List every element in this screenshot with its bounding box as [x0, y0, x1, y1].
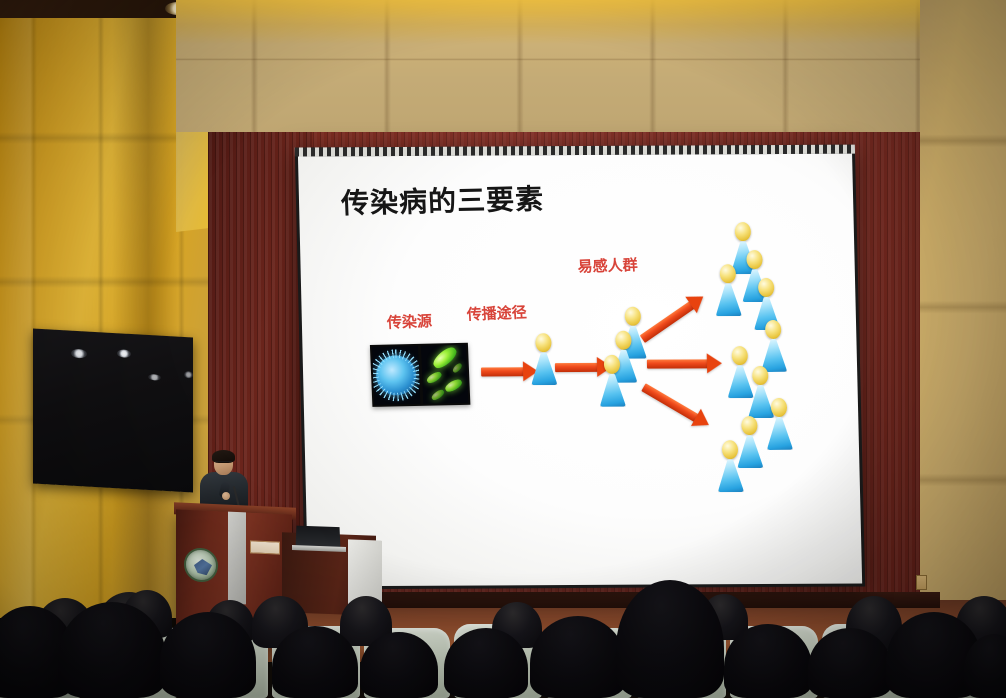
label-source-of-infection: 传染源	[386, 310, 432, 333]
pathogen-micrograph-pair	[370, 343, 471, 407]
screen-surface: 传染病的三要素 传染源 传播途径 易感人群	[298, 154, 862, 587]
arrow-group-to-top-cluster	[640, 301, 696, 343]
glasses-icon	[215, 461, 232, 465]
figure-body	[717, 459, 744, 492]
figure-head	[765, 320, 781, 339]
monitor-glare	[184, 371, 193, 379]
bacterium-icon	[430, 388, 445, 402]
monitor-glare	[117, 349, 131, 358]
figure-head	[604, 355, 620, 374]
person-figure	[760, 320, 787, 372]
figure-head	[722, 440, 738, 459]
arrow-pathogen-to-person	[481, 367, 525, 376]
virus-micrograph-icon	[372, 346, 420, 405]
figure-head	[732, 346, 748, 365]
monitor-glare	[148, 374, 161, 381]
label-transmission-route: 传播途径	[466, 301, 527, 324]
figure-body	[766, 417, 793, 450]
arrow-group-to-middle-cluster	[647, 359, 709, 368]
figure-body	[599, 374, 626, 407]
stone-pillar-right	[920, 0, 1006, 640]
figure-head	[615, 331, 631, 350]
figure-body	[715, 283, 742, 316]
person-figure	[599, 355, 626, 407]
audience	[0, 560, 1006, 698]
figure-body	[531, 352, 558, 385]
figure-head	[535, 333, 551, 352]
virus-particle-icon	[375, 355, 417, 396]
bacterium-icon	[425, 370, 443, 385]
projection-screen: 传染病的三要素 传染源 传播途径 易感人群	[295, 145, 865, 590]
slide-title: 传染病的三要素	[340, 177, 545, 222]
lecture-hall-photo: 传染病的三要素 传染源 传播途径 易感人群	[0, 0, 1006, 698]
audience-head	[616, 580, 724, 698]
figure-head	[752, 366, 768, 385]
presentation-slide: 传染病的三要素 传染源 传播途径 易感人群	[298, 154, 862, 587]
figure-head	[720, 264, 736, 283]
monitor-glare	[71, 349, 87, 359]
stone-surround-light-glow	[176, 0, 1006, 44]
wall-display-monitor[interactable]	[33, 329, 193, 493]
presenter-hand	[222, 492, 230, 500]
figure-head	[741, 416, 757, 435]
person-figure	[717, 440, 744, 492]
bacterium-icon	[443, 377, 463, 394]
arrow-person-to-group	[555, 363, 599, 372]
wall-corner-shadow	[112, 18, 178, 618]
figure-head	[746, 250, 762, 269]
bacterium-icon	[451, 362, 463, 374]
figure-head	[771, 398, 787, 417]
figure-head	[625, 307, 641, 326]
figure-head	[735, 222, 751, 241]
arrow-group-to-bottom-cluster	[641, 383, 699, 422]
label-susceptible-population: 易感人群	[577, 254, 638, 277]
figure-head	[758, 278, 774, 297]
person-figure	[715, 264, 742, 316]
person-figure	[530, 333, 557, 385]
bacteria-micrograph-icon	[420, 345, 468, 404]
desk-name-card	[250, 540, 280, 554]
person-figure	[766, 398, 793, 450]
